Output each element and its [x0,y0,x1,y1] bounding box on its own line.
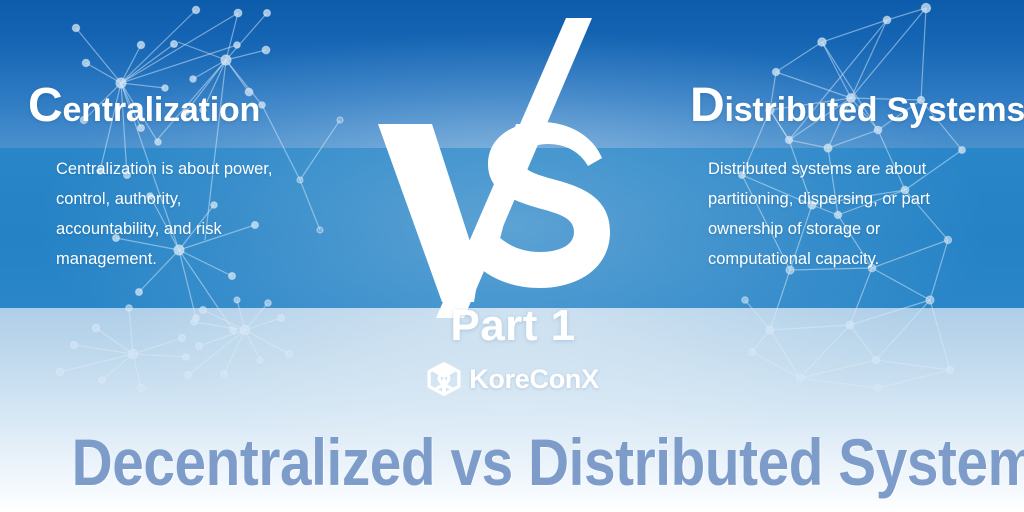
right-body-line: ownership of storage or [708,214,1000,244]
left-body-text: Centralization is about power, control, … [56,154,328,274]
left-body-line: accountability, and risk [56,214,328,244]
left-heading-rest: entralization [62,91,260,129]
right-heading-rest: istributed Systems [724,91,1024,129]
right-heading: Distributed Systems [690,82,1000,130]
left-body-line: Centralization is about power, [56,154,328,184]
left-heading-dropcap: C [28,79,62,132]
brand-name: KoreConX [469,366,599,393]
right-body-line: computational capacity. [708,244,1000,274]
vs-mark [370,18,656,318]
bottom-title: Decentralized vs Distributed Systems [72,424,953,500]
left-body-line: control, authority, [56,184,328,214]
right-body-text: Distributed systems are about partitioni… [708,154,1000,274]
part-label: Part 1 [370,304,656,348]
right-column: Distributed Systems Distributed systems … [690,82,1000,274]
left-body-line: management. [56,244,328,274]
right-body-line: partitioning, dispersing, or part [708,184,1000,214]
left-heading: Centralization [28,82,328,130]
brand-row: KoreConX [370,362,656,396]
banner-graphic: Centralization Centralization is about p… [0,0,1024,512]
versus-block: Part 1 KoreConX [370,18,656,388]
right-body-line: Distributed systems are about [708,154,1000,184]
right-heading-dropcap: D [690,79,724,132]
koreconx-cube-icon [427,362,461,396]
left-column: Centralization Centralization is about p… [28,82,328,274]
